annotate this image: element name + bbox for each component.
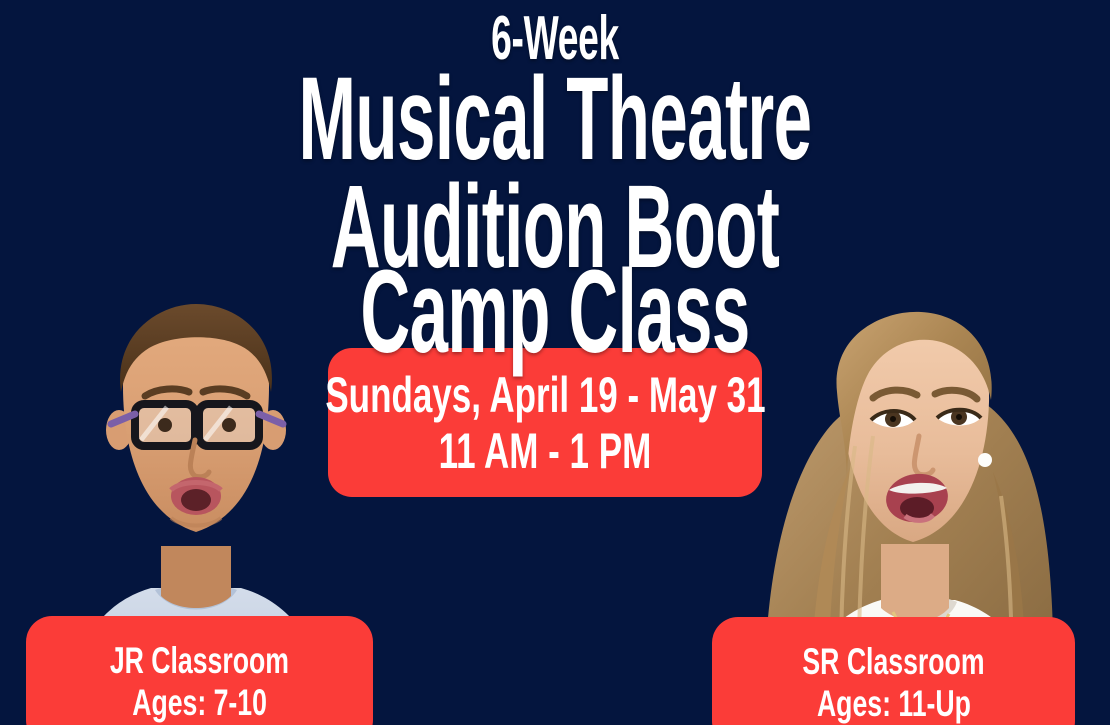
sr-classroom-badge: SR Classroom Ages: 11-Up: [712, 617, 1075, 725]
jr-classroom-badge: JR Classroom Ages: 7-10: [26, 616, 373, 725]
jr-classroom-ages: Ages: 7-10: [132, 684, 267, 721]
page-title-line-1: Musical Theatre Audition Boot: [230, 65, 879, 282]
schedule-card: Sundays, April 19 - May 31 11 AM - 1 PM: [328, 348, 762, 497]
sr-classroom-ages: Ages: 11-Up: [817, 685, 971, 722]
sr-classroom-name: SR Classroom: [802, 643, 984, 680]
jr-classroom-name: JR Classroom: [110, 642, 289, 679]
schedule-time: 11 AM - 1 PM: [439, 426, 652, 476]
kicker-text: 6-Week: [222, 10, 888, 69]
girl-earring: [978, 453, 992, 467]
poster-canvas: 6-Week Musical Theatre Audition Boot Cam…: [0, 0, 1110, 725]
schedule-dates: Sundays, April 19 - May 31: [325, 370, 765, 420]
